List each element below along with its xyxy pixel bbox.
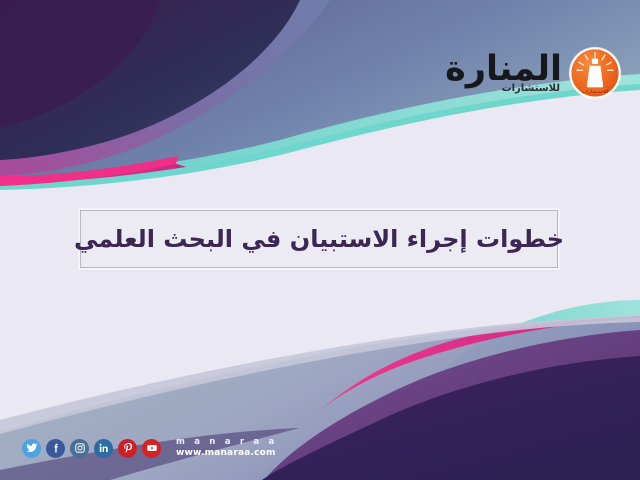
footer-url[interactable]: www.manaraa.com bbox=[176, 448, 277, 459]
logo-tagline: للاستشارات bbox=[502, 84, 560, 94]
logo-wordmark: المنارة للاستشارات bbox=[445, 52, 562, 94]
twitter-icon[interactable] bbox=[22, 439, 41, 458]
facebook-icon[interactable] bbox=[46, 439, 65, 458]
logo-name: المنارة bbox=[445, 52, 562, 87]
footer-brand: m a n a r a a bbox=[176, 437, 277, 448]
slide-canvas: المنارة للاستشارات bbox=[0, 0, 640, 480]
lighthouse-icon: للاستشارات bbox=[568, 46, 622, 100]
footer-text-block: m a n a r a a www.manaraa.com bbox=[176, 437, 277, 459]
title-box: خطوات إجراء الاستبيان في البحث العلمي bbox=[80, 210, 558, 268]
svg-text:للاستشارات: للاستشارات bbox=[582, 90, 609, 95]
footer-bar: m a n a r a a www.manaraa.com bbox=[22, 437, 277, 459]
youtube-icon[interactable] bbox=[142, 439, 161, 458]
pinterest-icon[interactable] bbox=[118, 439, 137, 458]
linkedin-icon[interactable] bbox=[94, 439, 113, 458]
page-title: خطوات إجراء الاستبيان في البحث العلمي bbox=[74, 225, 564, 253]
brand-logo: المنارة للاستشارات bbox=[445, 46, 622, 100]
instagram-icon[interactable] bbox=[70, 439, 89, 458]
